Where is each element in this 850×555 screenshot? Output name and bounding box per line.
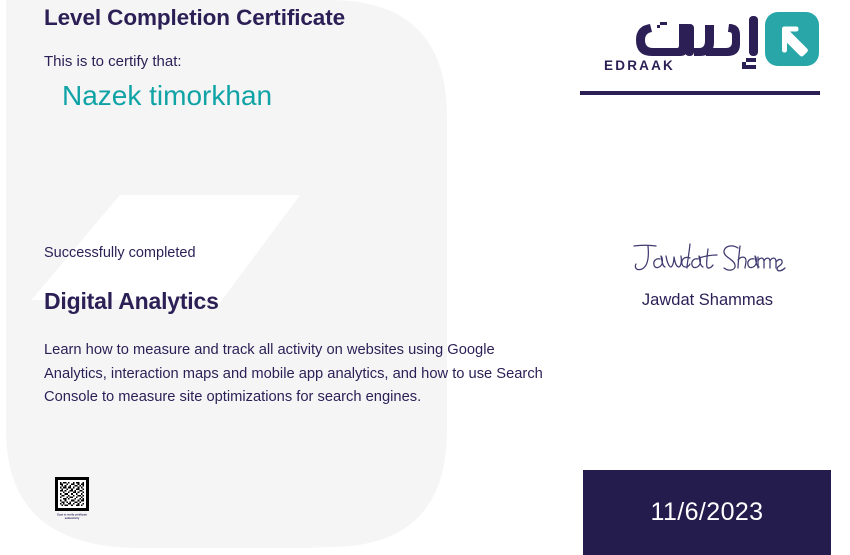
- issue-date: 11/6/2023: [651, 498, 764, 527]
- course-description: Learn how to measure and track all activ…: [44, 339, 549, 410]
- handwritten-signature-icon: [628, 240, 788, 282]
- edraak-logo: EDRAAK: [579, 8, 836, 76]
- issue-date-block: 11/6/2023: [583, 470, 831, 555]
- certificate-document: Level Completion Certificate This is to …: [0, 0, 850, 555]
- completion-label: Successfully completed: [44, 245, 196, 261]
- arrow-up-left-icon: [765, 12, 819, 66]
- course-title: Digital Analytics: [44, 288, 219, 315]
- certificate-main-panel: Level Completion Certificate This is to …: [0, 0, 565, 555]
- verification-qr-block[interactable]: Scan to verify certificate authenticity: [54, 477, 94, 520]
- logo-divider: [580, 91, 820, 95]
- certificate-side-panel: EDRAAK: [565, 0, 850, 555]
- certify-statement: This is to certify that:: [44, 53, 182, 70]
- signer-name: Jawdat Shammas: [565, 291, 850, 310]
- svg-text:EDRAAK: EDRAAK: [604, 58, 675, 73]
- page-title: Level Completion Certificate: [44, 5, 345, 31]
- qr-code-icon[interactable]: [54, 477, 90, 511]
- signature-block: Jawdat Shammas: [565, 240, 850, 310]
- recipient-name: Nazek timorkhan: [62, 80, 272, 112]
- qr-caption: Scan to verify certificate authenticity: [50, 513, 94, 521]
